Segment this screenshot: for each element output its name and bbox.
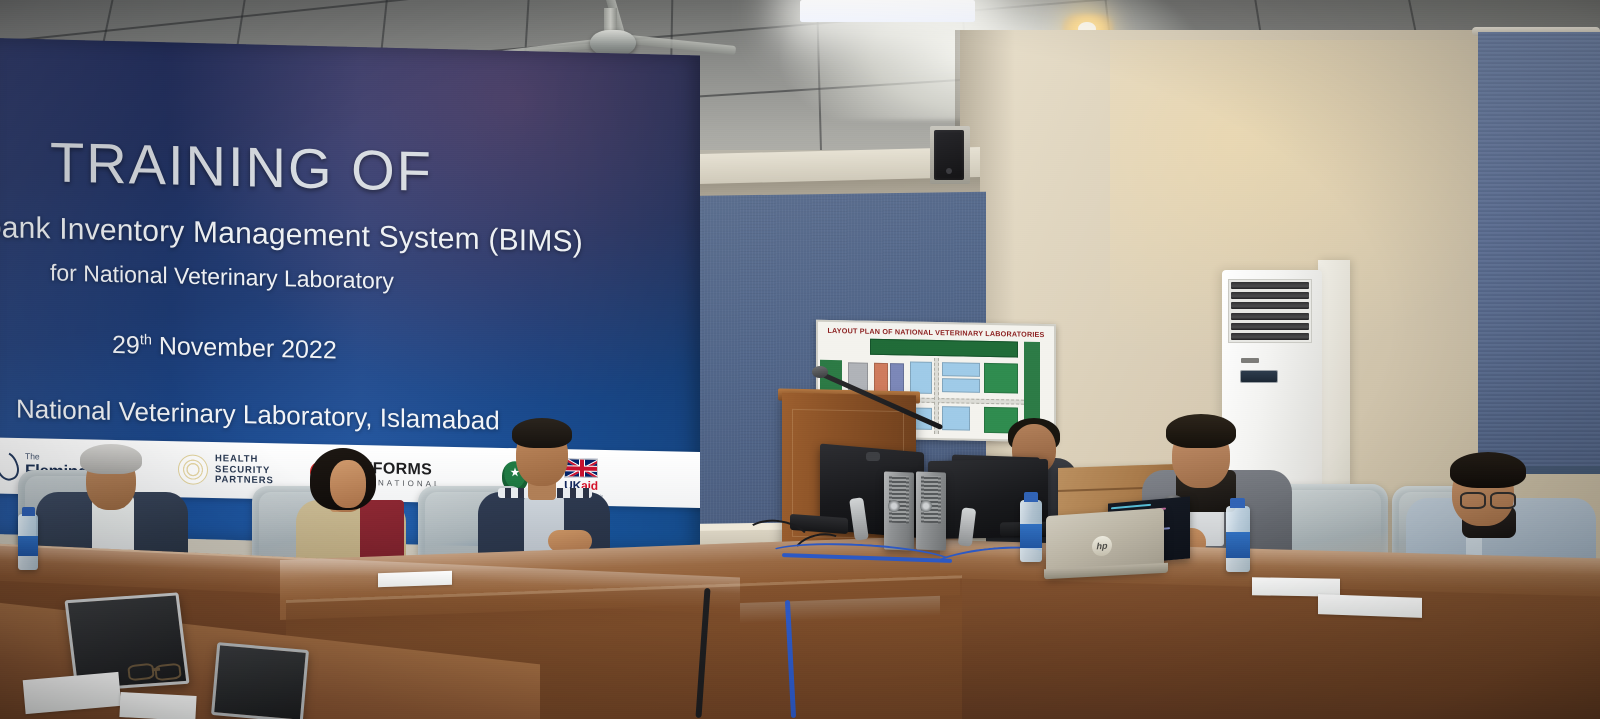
union-jack-flag-icon [564, 458, 598, 478]
speaker-driver-icon [946, 168, 952, 174]
poster-title: LAYOUT PLAN OF NATIONAL VETERINARY LABOR… [818, 326, 1054, 340]
desktop-tower [916, 471, 946, 550]
fluorescent-panel-light [800, 0, 975, 22]
poster-building-block [874, 363, 888, 393]
banner-subtitle: for National Veterinary Laboratory [50, 259, 670, 301]
hair [512, 418, 572, 448]
water-bottle[interactable] [1020, 500, 1042, 562]
roller-blind-texture [1478, 32, 1600, 472]
poster-building-block [942, 406, 970, 431]
face [330, 460, 366, 508]
water-bottle[interactable] [18, 514, 38, 570]
banner-system-name: obank Inventory Management System (BIMS) [0, 210, 688, 262]
monitor-webcam-icon [866, 452, 880, 461]
poster-building-block [870, 339, 1018, 358]
bottle-cap [22, 507, 35, 516]
hair [1166, 414, 1236, 448]
eyeglasses-worn [1490, 492, 1516, 509]
ethernet-cable [785, 600, 796, 718]
ac-brand-badge [1241, 358, 1259, 363]
hair-grey [80, 444, 142, 474]
ac-pipe-cover [1318, 260, 1350, 485]
laptop-foreground[interactable] [211, 642, 309, 719]
tower-fan-icon [920, 500, 932, 512]
poster-building-block [942, 362, 980, 377]
ac-grille [1228, 279, 1312, 343]
poster-building-block [910, 362, 932, 394]
document-paper[interactable] [378, 571, 452, 588]
poster-building-block [984, 363, 1018, 394]
desktop-tower [884, 471, 914, 550]
poster-building-block [890, 363, 904, 393]
tower-fan-icon [888, 500, 900, 512]
document-paper[interactable] [119, 692, 196, 719]
banner-date: 29th November 2022 [112, 331, 632, 373]
conference-table-center-face [286, 575, 962, 719]
hair [1450, 452, 1526, 488]
banner-title: TRAINING OF [50, 129, 470, 204]
document-paper[interactable] [23, 672, 122, 714]
eyeglasses-worn [1460, 492, 1486, 509]
eyeglasses-worn [4, 630, 38, 648]
water-bottle[interactable] [1226, 506, 1250, 572]
poster-building-block [942, 378, 980, 393]
ac-display-panel[interactable] [1240, 370, 1278, 383]
hands [548, 530, 592, 552]
microphone-head-icon[interactable] [812, 366, 828, 378]
bottle-cap [1024, 492, 1038, 502]
hsp-sunburst-icon [178, 454, 208, 485]
document-paper[interactable] [1318, 594, 1422, 618]
photo-scene: TRAINING OF obank Inventory Management S… [0, 0, 1600, 719]
bottle-cap [1230, 498, 1245, 508]
cable [695, 588, 710, 718]
